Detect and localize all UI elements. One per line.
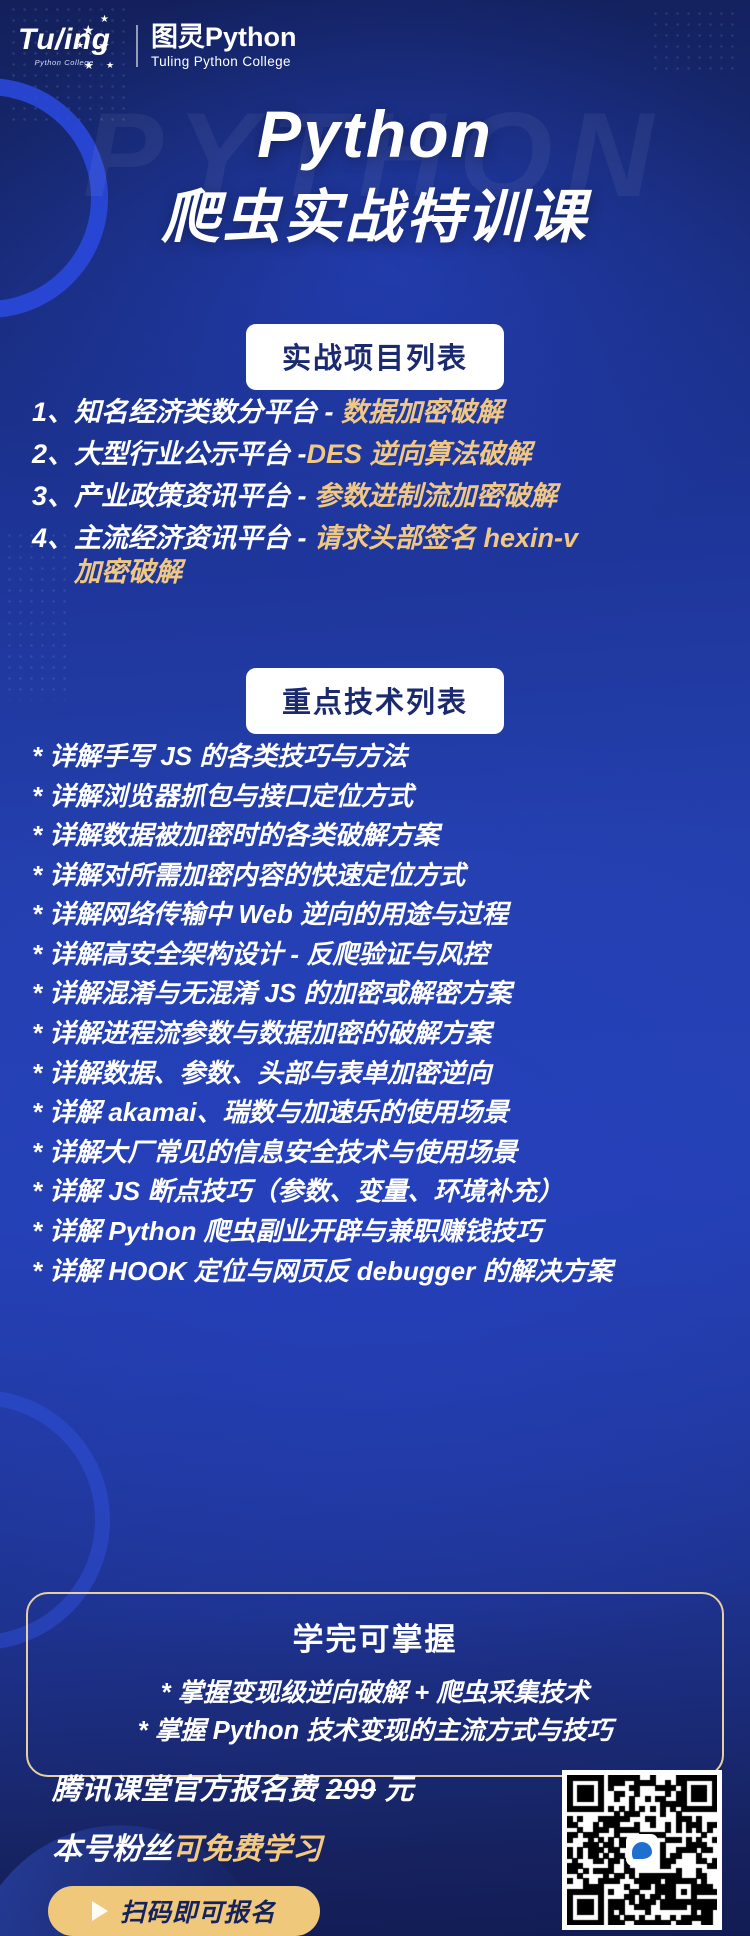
project-index: 1、 [32,397,74,427]
qr-code[interactable] [562,1770,722,1930]
project-name: 知名经济类数分平台 - [74,397,341,427]
tech-list-item-label: 详解高安全架构设计 - 反爬验证与风控 [49,939,488,969]
section-heading-projects: 实战项目列表 [246,324,504,390]
project-list-item: 1、知名经济类数分平台 - 数据加密破解 [32,398,722,427]
bullet-asterisk: * [32,899,42,929]
project-highlight: 数据加密破解 [341,397,503,427]
outcome-list: * 掌握变现级逆向破解 + 爬虫采集技术* 掌握 Python 技术变现的主流方… [28,1674,722,1751]
tech-list-item: *详解 JS 断点技巧（参数、变量、环境补充） [32,1177,722,1205]
tech-list-item-label: 详解 HOOK 定位与网页反 debugger 的解决方案 [49,1256,612,1286]
bullet-asterisk: * [32,1137,42,1167]
qr-center-badge [626,1834,658,1866]
tech-list-item-label: 详解浏览器抓包与接口定位方式 [49,781,413,811]
tech-list-item-label: 详解数据被加密时的各类破解方案 [49,820,439,850]
bullet-asterisk: * [32,978,42,1008]
bullet-asterisk: * [32,1256,42,1286]
tech-list-item-label: 详解大厂常见的信息安全技术与使用场景 [49,1137,517,1167]
star-icon: ★ [84,61,94,72]
enroll-button-label: 扫码即可报名 [120,1893,276,1929]
bullet-asterisk: * [32,820,42,850]
free-highlight: 可免费学习 [172,1833,322,1866]
chat-bubble-icon [632,1842,652,1859]
star-icon: ★ [100,15,109,25]
tech-list-item: *详解 Python 爬虫副业开辟与兼职赚钱技巧 [32,1217,722,1245]
bullet-asterisk: * [32,741,42,771]
tech-list-item: *详解网络传输中 Web 逆向的用途与过程 [32,900,722,928]
tech-list-item: *详解 HOOK 定位与网页反 debugger 的解决方案 [32,1257,722,1285]
section-heading-tech: 重点技术列表 [246,668,504,734]
tech-list-item-label: 详解数据、参数、头部与表单加密逆向 [49,1058,491,1088]
bullet-asterisk: * [32,939,42,969]
play-icon [92,1901,108,1921]
bullet-asterisk: * [32,781,42,811]
bullet-asterisk: * [32,1018,42,1048]
logo-name-en: Tuling Python College [151,54,297,69]
project-name: 产业政策资讯平台 - [74,481,314,511]
star-icon: ★ [76,41,84,50]
bullet-asterisk: * [32,1058,42,1088]
tech-list-item-label: 详解手写 JS 的各类技巧与方法 [49,741,407,771]
outcome-list-item: * 掌握 Python 技术变现的主流方式与技巧 [28,1712,722,1750]
project-list-item: 4、主流经济资讯平台 - 请求头部签名 hexin-v加密破解 [32,524,722,586]
tech-list: *详解手写 JS 的各类技巧与方法*详解浏览器抓包与接口定位方式*详解数据被加密… [32,742,722,1296]
bullet-asterisk: * [32,1097,42,1127]
project-list-item: 2、大型行业公示平台 -DES 逆向算法破解 [32,440,722,469]
tech-list-item: *详解混淆与无混淆 JS 的加密或解密方案 [32,979,722,1007]
tech-list-item: *详解进程流参数与数据加密的破解方案 [32,1019,722,1047]
project-list-item: 3、产业政策资讯平台 - 参数进制流加密破解 [32,482,722,511]
tech-list-item-label: 详解 akamai、瑞数与加速乐的使用场景 [49,1097,508,1127]
tech-list-item: *详解数据、参数、头部与表单加密逆向 [32,1059,722,1087]
bullet-asterisk: * [32,860,42,890]
price-prefix: 腾讯课堂官方报名费 [52,1774,326,1806]
tech-list-item: *详解大厂常见的信息安全技术与使用场景 [32,1138,722,1166]
outcome-heading: 学完可掌握 [28,1614,722,1659]
tech-list-item-label: 详解混淆与无混淆 JS 的加密或解密方案 [49,978,511,1008]
project-highlight: 参数进制流加密破解 [314,481,557,511]
tech-list-item: *详解手写 JS 的各类技巧与方法 [32,742,722,770]
tech-list-item: *详解数据被加密时的各类破解方案 [32,821,722,849]
free-line: 本号粉丝可免费学习 [52,1824,322,1868]
tech-list-item-label: 详解 JS 断点技巧（参数、变量、环境补充） [49,1176,563,1206]
project-list: 1、知名经济类数分平台 - 数据加密破解2、大型行业公示平台 -DES 逆向算法… [32,398,722,600]
tech-list-item-label: 详解网络传输中 Web 逆向的用途与过程 [49,899,508,929]
bullet-asterisk: * [32,1216,42,1246]
price-line: 腾讯课堂官方报名费 299 元 [52,1766,414,1808]
tech-list-item: *详解 akamai、瑞数与加速乐的使用场景 [32,1098,722,1126]
project-highlight-continued: 加密破解 [32,558,722,587]
star-icon: ★ [98,39,110,52]
tech-list-item: *详解对所需加密内容的快速定位方式 [32,861,722,889]
page-subtitle: 爬虫实战特训课 [0,170,750,254]
outcome-box: 学完可掌握 * 掌握变现级逆向破解 + 爬虫采集技术* 掌握 Python 技术… [26,1592,724,1777]
free-prefix: 本号粉丝 [52,1833,172,1866]
project-highlight: DES 逆向算法破解 [307,439,532,469]
logo-name-block: 图灵Python Tuling Python College [151,22,297,69]
star-icon: ★ [106,61,114,70]
tech-list-item-label: 详解进程流参数与数据加密的破解方案 [49,1018,491,1048]
project-highlight: 请求头部签名 hexin-v [314,523,578,553]
logo-name-cn: 图灵Python [151,22,297,52]
page-title: Python [0,96,750,172]
enroll-button[interactable]: 扫码即可报名 [48,1886,320,1936]
tech-list-item-label: 详解对所需加密内容的快速定位方式 [49,860,465,890]
project-index: 3、 [32,481,74,511]
logo-divider [136,25,138,67]
price-suffix: 元 [376,1774,414,1806]
star-icon: ★ [82,23,95,37]
project-index: 4、 [32,523,74,553]
bullet-asterisk: * [32,1176,42,1206]
project-name: 大型行业公示平台 - [74,439,307,469]
tech-list-item-label: 详解 Python 爬虫副业开辟与兼职赚钱技巧 [49,1216,542,1246]
stars-decoration: ★ ★ ★ ★ ★ ★ [76,17,136,83]
outcome-list-item: * 掌握变现级逆向破解 + 爬虫采集技术 [28,1674,722,1712]
logo-wordmark: Tu/ing Python College ★ ★ ★ ★ ★ ★ [18,25,132,67]
tech-list-item: *详解高安全架构设计 - 反爬验证与风控 [32,940,722,968]
tech-list-item: *详解浏览器抓包与接口定位方式 [32,782,722,810]
price-original: 299 [326,1774,376,1806]
project-index: 2、 [32,439,74,469]
brand-logo: Tu/ing Python College ★ ★ ★ ★ ★ ★ 图灵Pyth… [18,22,296,69]
dot-pattern-top-right [650,8,740,78]
project-name: 主流经济资讯平台 - [74,523,314,553]
poster-root: PYTHON Tu/ing Python College ★ ★ ★ ★ ★ ★… [0,0,750,1936]
